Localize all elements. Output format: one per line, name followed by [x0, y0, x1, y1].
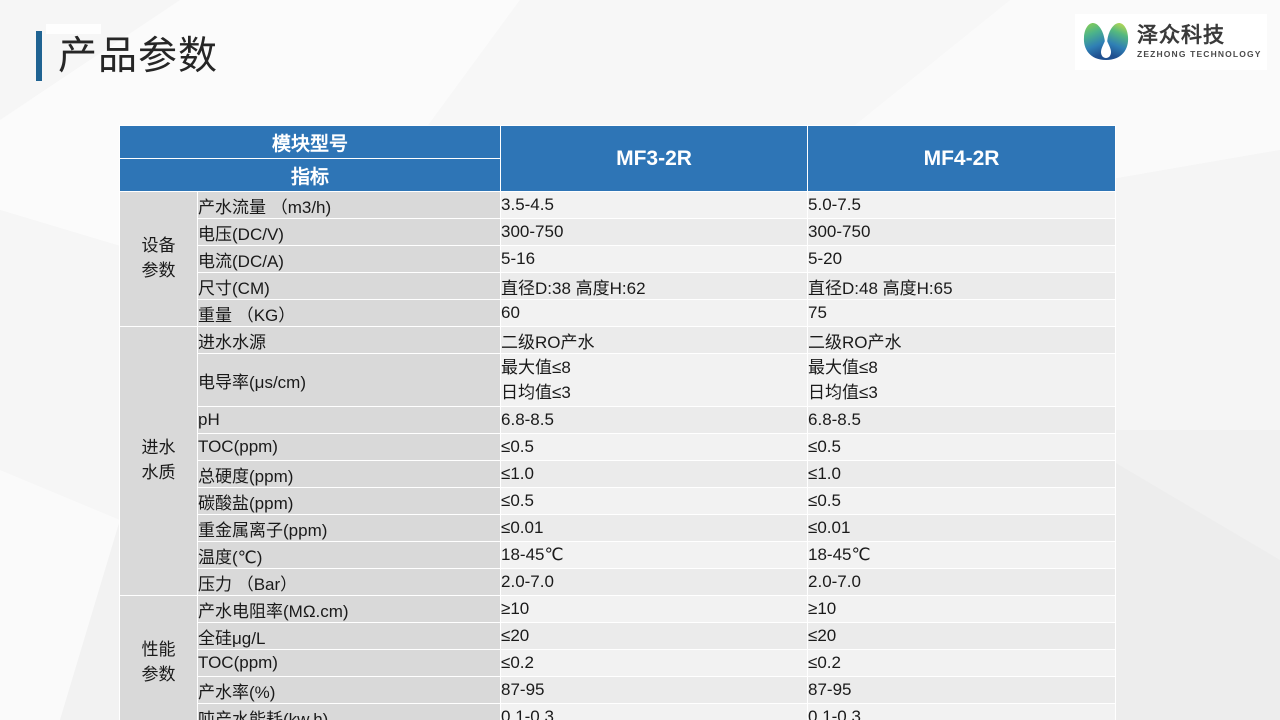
value-mf3: ≤0.2 — [501, 650, 808, 677]
value-mf3: 最大值≤8 日均值≤3 — [501, 354, 808, 407]
value-mf4: 最大值≤8 日均值≤3 — [808, 354, 1116, 407]
item-label: 尺寸(CM) — [198, 273, 501, 300]
item-label: 电流(DC/A) — [198, 246, 501, 273]
value-mf4: 5-20 — [808, 246, 1116, 273]
table-row: 吨产水能耗(kw.h) 0.1-0.3 0.1-0.3 — [120, 704, 1116, 720]
table-row: 进水 水质 进水水源 二级RO产水 二级RO产水 — [120, 327, 1116, 354]
table-row: 重金属离子(ppm) ≤0.01 ≤0.01 — [120, 515, 1116, 542]
table-row: 性能 参数 产水电阻率(MΩ.cm) ≥10 ≥10 — [120, 596, 1116, 623]
value-mf4: 0.1-0.3 — [808, 704, 1116, 720]
leaf-droplet-icon — [1081, 20, 1131, 65]
table-row: 电导率(μs/cm) 最大值≤8 日均值≤3 最大值≤8 日均值≤3 — [120, 354, 1116, 407]
value-mf4: 87-95 — [808, 677, 1116, 704]
table-row: TOC(ppm) ≤0.5 ≤0.5 — [120, 434, 1116, 461]
value-mf4: ≤0.5 — [808, 488, 1116, 515]
value-mf4: ≤0.01 — [808, 515, 1116, 542]
table-row: 电压(DC/V) 300-750 300-750 — [120, 219, 1116, 246]
value-mf3: ≤0.5 — [501, 434, 808, 461]
category-line: 性能 — [120, 638, 197, 663]
table-row: 总硬度(ppm) ≤1.0 ≤1.0 — [120, 461, 1116, 488]
value-mf4: 18-45℃ — [808, 542, 1116, 569]
table-row: 压力 （Bar） 2.0-7.0 2.0-7.0 — [120, 569, 1116, 596]
header-model-mf4: MF4-2R — [808, 126, 1116, 192]
table-row: 尺寸(CM) 直径D:38 高度H:62 直径D:48 高度H:65 — [120, 273, 1116, 300]
value-mf4: 300-750 — [808, 219, 1116, 246]
header-model-mf3: MF3-2R — [501, 126, 808, 192]
value-mf3: 60 — [501, 300, 808, 327]
value-line: 最大值≤8 — [501, 355, 807, 381]
table-row: 电流(DC/A) 5-16 5-20 — [120, 246, 1116, 273]
table-body: 模块型号 MF3-2R MF4-2R 指标 设备 参数 产水流量 （m3/h) … — [120, 126, 1116, 720]
value-mf4: 75 — [808, 300, 1116, 327]
value-mf3: ≥10 — [501, 596, 808, 623]
item-label: 重量 （KG） — [198, 300, 501, 327]
item-label: 温度(℃) — [198, 542, 501, 569]
value-mf3: 18-45℃ — [501, 542, 808, 569]
value-mf4: ≤1.0 — [808, 461, 1116, 488]
item-label: 产水流量 （m3/h) — [198, 192, 501, 219]
table-row: 设备 参数 产水流量 （m3/h) 3.5-4.5 5.0-7.5 — [120, 192, 1116, 219]
value-mf3: ≤0.5 — [501, 488, 808, 515]
item-label: 重金属离子(ppm) — [198, 515, 501, 542]
value-mf3: 300-750 — [501, 219, 808, 246]
value-mf3: ≤20 — [501, 623, 808, 650]
value-line: 日均值≤3 — [808, 380, 1115, 406]
logo-text: 泽众科技 ZEZHONG TECHNOLOGY — [1137, 25, 1262, 59]
value-mf4: 直径D:48 高度H:65 — [808, 273, 1116, 300]
page-title: 产品参数 — [58, 37, 218, 76]
table-row: 碳酸盐(ppm) ≤0.5 ≤0.5 — [120, 488, 1116, 515]
table-row: 温度(℃) 18-45℃ 18-45℃ — [120, 542, 1116, 569]
item-label: 压力 （Bar） — [198, 569, 501, 596]
table-row: 重量 （KG） 60 75 — [120, 300, 1116, 327]
value-mf3: 3.5-4.5 — [501, 192, 808, 219]
item-label: 总硬度(ppm) — [198, 461, 501, 488]
logo-name-en: ZEZHONG TECHNOLOGY — [1137, 49, 1262, 59]
table-row: 产水率(%) 87-95 87-95 — [120, 677, 1116, 704]
category-line: 进水 — [120, 436, 197, 461]
slide-canvas: 产品参数 泽众科技 — [0, 0, 1280, 720]
item-label: 产水率(%) — [198, 677, 501, 704]
header-index-label: 指标 — [120, 159, 501, 192]
value-mf4: 6.8-8.5 — [808, 407, 1116, 434]
value-mf3: ≤1.0 — [501, 461, 808, 488]
category-cell-equipment: 设备 参数 — [120, 192, 198, 327]
item-label: 产水电阻率(MΩ.cm) — [198, 596, 501, 623]
item-label: TOC(ppm) — [198, 434, 501, 461]
item-label: 电导率(μs/cm) — [198, 354, 501, 407]
value-mf4: 2.0-7.0 — [808, 569, 1116, 596]
category-line: 水质 — [120, 461, 197, 486]
table-row: 全硅μg/L ≤20 ≤20 — [120, 623, 1116, 650]
category-cell-performance: 性能 参数 — [120, 596, 198, 720]
value-mf3: 二级RO产水 — [501, 327, 808, 354]
value-mf3: 87-95 — [501, 677, 808, 704]
category-line: 参数 — [120, 663, 197, 688]
table-row: pH 6.8-8.5 6.8-8.5 — [120, 407, 1116, 434]
value-mf3: 0.1-0.3 — [501, 704, 808, 720]
category-cell-feedwater: 进水 水质 — [120, 327, 198, 596]
item-label: 进水水源 — [198, 327, 501, 354]
value-mf3: 6.8-8.5 — [501, 407, 808, 434]
item-label: 全硅μg/L — [198, 623, 501, 650]
value-mf4: 5.0-7.5 — [808, 192, 1116, 219]
company-logo: 泽众科技 ZEZHONG TECHNOLOGY — [1075, 14, 1267, 70]
value-mf3: 2.0-7.0 — [501, 569, 808, 596]
value-mf4: ≤0.5 — [808, 434, 1116, 461]
value-mf4: 二级RO产水 — [808, 327, 1116, 354]
item-label: 电压(DC/V) — [198, 219, 501, 246]
header-model-label: 模块型号 — [120, 126, 501, 159]
item-label: 碳酸盐(ppm) — [198, 488, 501, 515]
value-mf4: ≥10 — [808, 596, 1116, 623]
table-row: TOC(ppm) ≤0.2 ≤0.2 — [120, 650, 1116, 677]
page-title-block: 产品参数 — [36, 28, 218, 84]
product-spec-table: 模块型号 MF3-2R MF4-2R 指标 设备 参数 产水流量 （m3/h) … — [119, 125, 1116, 720]
item-label: pH — [198, 407, 501, 434]
value-mf3: 5-16 — [501, 246, 808, 273]
value-mf3: 直径D:38 高度H:62 — [501, 273, 808, 300]
value-mf3: ≤0.01 — [501, 515, 808, 542]
category-line: 参数 — [120, 259, 197, 284]
category-line: 设备 — [120, 234, 197, 259]
item-label: 吨产水能耗(kw.h) — [198, 704, 501, 720]
logo-name-cn: 泽众科技 — [1137, 25, 1262, 47]
value-line: 日均值≤3 — [501, 380, 807, 406]
value-mf4: ≤0.2 — [808, 650, 1116, 677]
value-line: 最大值≤8 — [808, 355, 1115, 381]
title-accent-bar — [36, 31, 42, 81]
table-header-row-1: 模块型号 MF3-2R MF4-2R — [120, 126, 1116, 159]
value-mf4: ≤20 — [808, 623, 1116, 650]
item-label: TOC(ppm) — [198, 650, 501, 677]
